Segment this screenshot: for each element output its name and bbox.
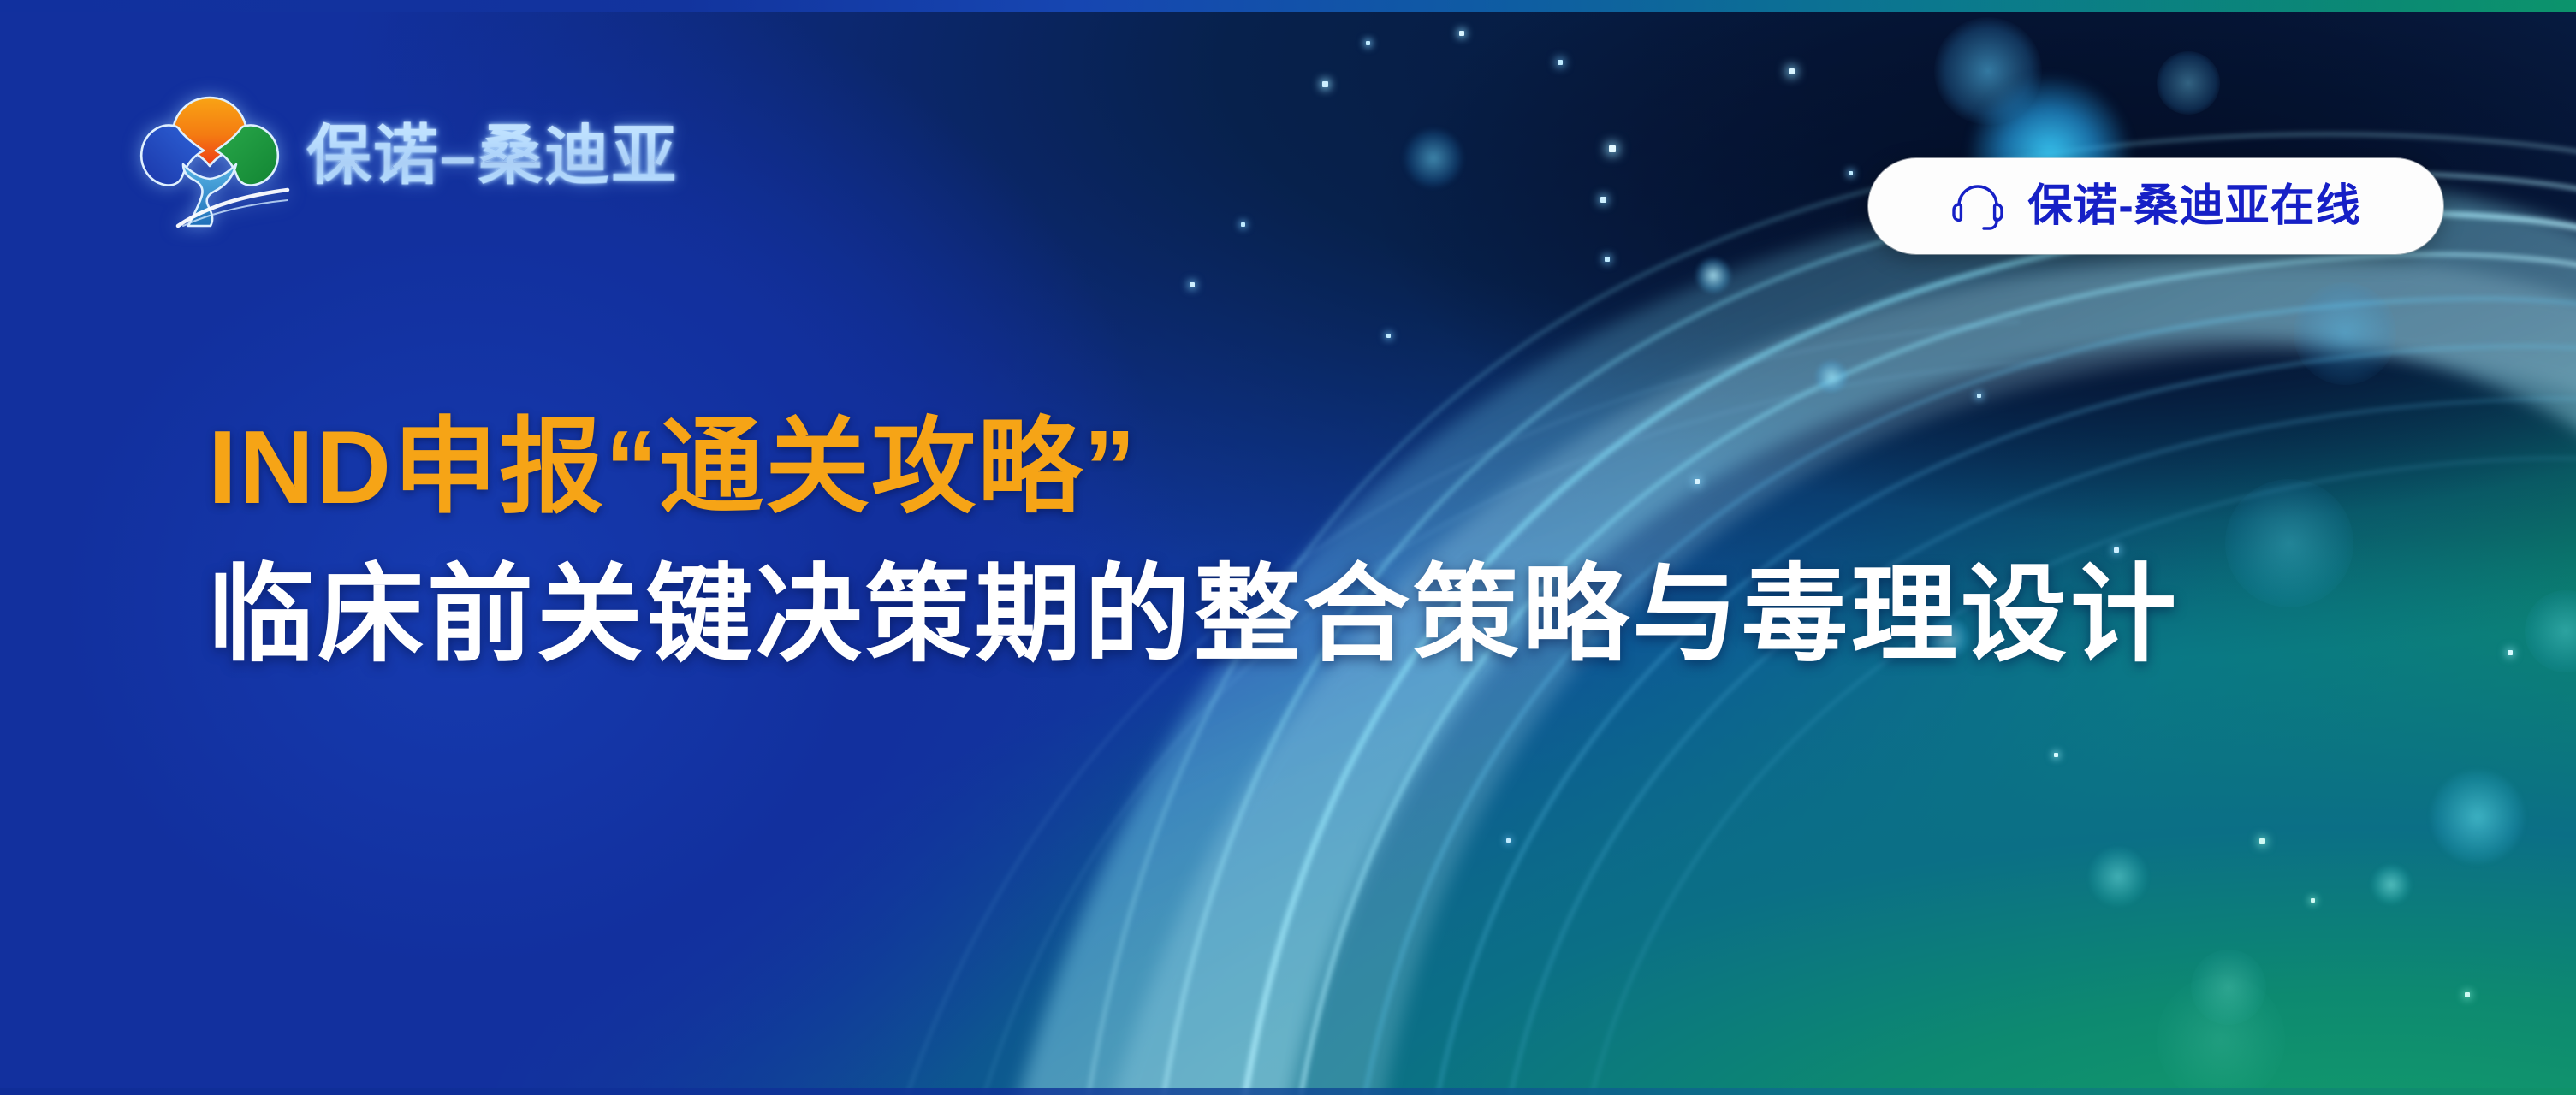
top-edge-strip xyxy=(0,0,2576,12)
headset-icon xyxy=(1950,179,2005,234)
three-petal-figure-logo-icon xyxy=(128,82,291,228)
bottom-edge-strip xyxy=(0,1088,2576,1095)
online-badge-label: 保诺-桑迪亚在线 xyxy=(2027,184,2360,228)
headline-subtitle: 临床前关键决策期的整合策略与毒理设计 xyxy=(208,557,2502,673)
banner-canvas: 保诺–桑迪亚 保诺-桑迪亚在线 IND申报“通关攻略” 临床前关键决策期的整合策… xyxy=(0,0,2576,1095)
brand-wordmark: 保诺–桑迪亚 xyxy=(306,121,678,189)
headline-main-title: IND申报“通关攻略” xyxy=(208,409,2502,526)
brand-logo-lockup[interactable]: 保诺–桑迪亚 xyxy=(128,82,608,228)
online-service-badge[interactable]: 保诺-桑迪亚在线 xyxy=(1868,158,2443,254)
headline-block: IND申报“通关攻略” 临床前关键决策期的整合策略与毒理设计 xyxy=(208,409,2502,673)
